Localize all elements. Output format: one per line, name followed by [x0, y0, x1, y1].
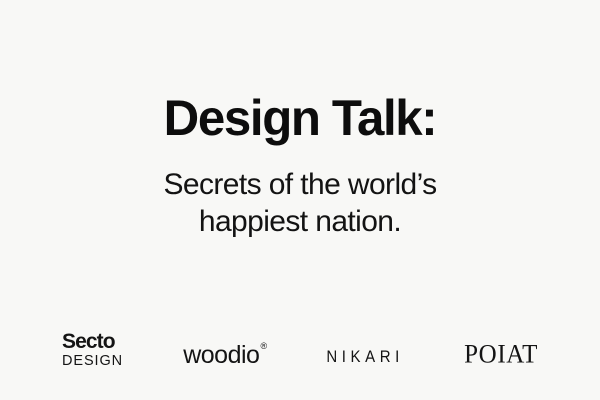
- logo-woodio-wordmark: woodio: [183, 341, 259, 369]
- logo-poiat: POIAT: [464, 342, 538, 370]
- logo-secto-subtext: DESIGN: [62, 352, 123, 369]
- registered-trademark-icon: ®: [260, 341, 267, 351]
- subtitle-line-1: Secrets of the world’s: [0, 167, 600, 204]
- logo-secto-design: Secto DESIGN: [62, 331, 123, 370]
- page-title: Design Talk:: [5, 92, 596, 145]
- headline-block: Design Talk: Secrets of the world’s happ…: [0, 92, 600, 240]
- design-talk-slide: Design Talk: Secrets of the world’s happ…: [0, 0, 600, 400]
- logo-woodio: woodio®: [183, 343, 266, 370]
- subtitle-line-2: happiest nation.: [0, 204, 600, 241]
- sponsor-logo-strip: Secto DESIGN woodio® NIKARI POIAT: [0, 326, 600, 370]
- logo-secto-wordmark: Secto: [62, 331, 123, 352]
- subtitle: Secrets of the world’s happiest nation.: [0, 145, 600, 240]
- logo-nikari: NIKARI: [326, 349, 404, 370]
